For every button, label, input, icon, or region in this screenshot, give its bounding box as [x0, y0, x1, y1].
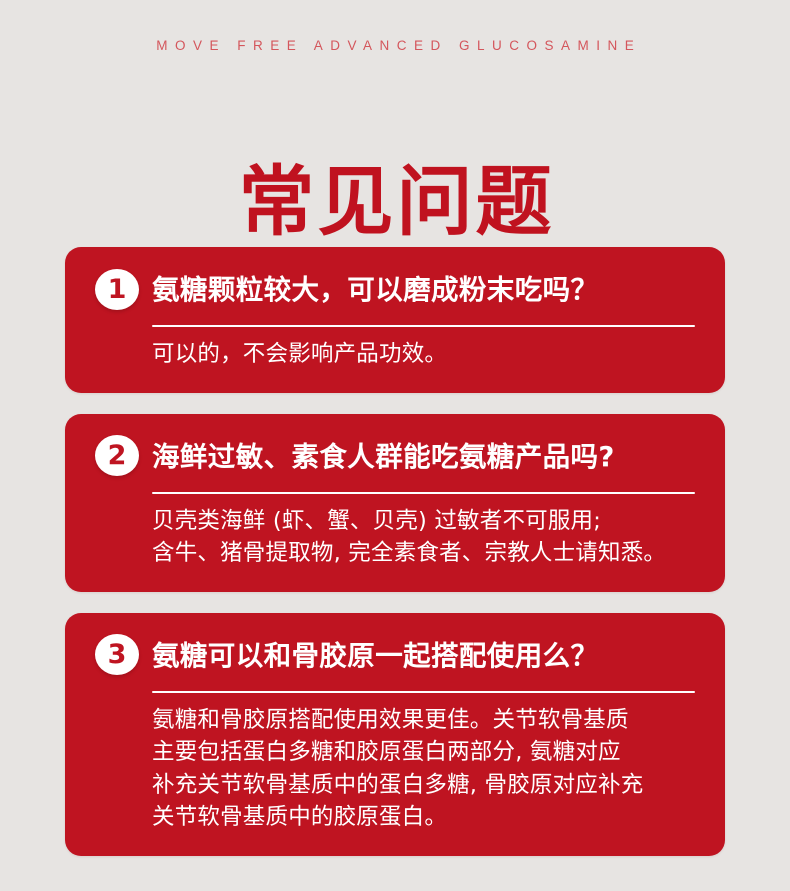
faq-answer-line: 氨糖和骨胶原搭配使用效果更佳。关节软骨基质: [152, 704, 695, 737]
faq-answer-line: 可以的，不会影响产品功效。: [152, 338, 695, 371]
faq-question-text: 氨糖可以和骨胶原一起搭配使用么？: [152, 637, 598, 675]
faq-divider: [152, 691, 695, 693]
faq-answer-text: 氨糖和骨胶原搭配使用效果更佳。关节软骨基质 主要包括蛋白多糖和胶原蛋白两部分, …: [152, 704, 695, 834]
faq-answer-text: 贝壳类海鲜 (虾、蟹、贝壳) 过敏者不可服用; 含牛、猪骨提取物, 完全素食者、…: [152, 505, 695, 570]
faq-answer-line: 补充关节软骨基质中的蛋白多糖, 骨胶原对应补充: [152, 769, 695, 802]
faq-question-text: 海鲜过敏、素食人群能吃氨糖产品吗?: [152, 438, 615, 476]
faq-question-row: 2 海鲜过敏、素食人群能吃氨糖产品吗?: [95, 434, 695, 480]
faq-question-row: 1 氨糖颗粒较大，可以磨成粉末吃吗？: [95, 267, 695, 313]
faq-answer-line: 关节软骨基质中的胶原蛋白。: [152, 801, 695, 834]
faq-number-badge: 1: [95, 269, 139, 310]
faq-answer-text: 可以的，不会影响产品功效。: [152, 338, 695, 371]
faq-question-row: 3 氨糖可以和骨胶原一起搭配使用么？: [95, 633, 695, 679]
faq-answer-line: 贝壳类海鲜 (虾、蟹、贝壳) 过敏者不可服用;: [152, 505, 695, 538]
faq-answer-line: 主要包括蛋白多糖和胶原蛋白两部分, 氨糖对应: [152, 736, 695, 769]
brand-eyebrow: MOVE FREE ADVANCED GLUCOSAMINE: [0, 38, 790, 53]
faq-answer-line: 含牛、猪骨提取物, 完全素食者、宗教人士请知悉。: [152, 537, 695, 570]
faq-card[interactable]: 2 海鲜过敏、素食人群能吃氨糖产品吗? 贝壳类海鲜 (虾、蟹、贝壳) 过敏者不可…: [65, 414, 725, 592]
faq-card[interactable]: 1 氨糖颗粒较大，可以磨成粉末吃吗？ 可以的，不会影响产品功效。: [65, 247, 725, 393]
faq-number-badge: 2: [95, 435, 139, 476]
faq-card[interactable]: 3 氨糖可以和骨胶原一起搭配使用么？ 氨糖和骨胶原搭配使用效果更佳。关节软骨基质…: [65, 613, 725, 856]
faq-divider: [152, 492, 695, 494]
faq-question-text: 氨糖颗粒较大，可以磨成粉末吃吗？: [152, 271, 598, 309]
faq-list: 1 氨糖颗粒较大，可以磨成粉末吃吗？ 可以的，不会影响产品功效。 2 海鲜过敏、…: [65, 247, 725, 856]
faq-number-badge: 3: [95, 634, 139, 675]
faq-page: MOVE FREE ADVANCED GLUCOSAMINE 常见问题 1 氨糖…: [0, 0, 790, 891]
page-title: 常见问题: [0, 159, 790, 245]
faq-divider: [152, 325, 695, 327]
